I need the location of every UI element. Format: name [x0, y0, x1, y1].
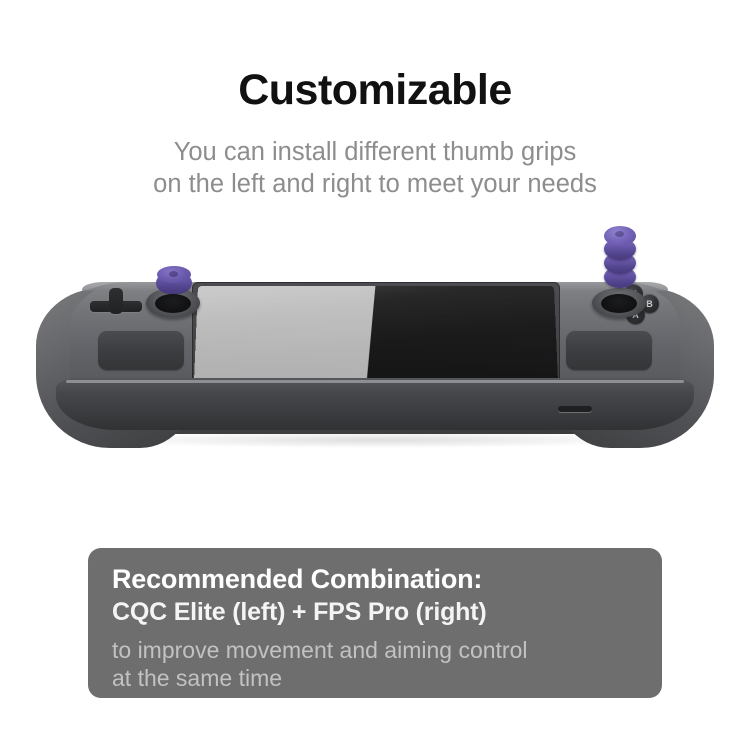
product-image-steam-deck: Y X B A STEAM: [0, 236, 750, 498]
page-title: Customizable: [0, 68, 750, 113]
reco-note-line-1: to improve movement and aiming control: [112, 636, 640, 665]
device-screen: [194, 286, 559, 392]
screen-right-half: [366, 286, 559, 392]
cqc-elite-emboss: [169, 271, 178, 277]
left-thumb-grip-cqc-elite: [156, 266, 192, 296]
headphone-jack-slot: [558, 406, 592, 412]
subtitle-line-2: on the left and right to meet your needs: [0, 168, 750, 201]
dpad-vertical-arm: [109, 288, 123, 314]
reco-note-line-2: at the same time: [112, 664, 640, 693]
reco-title: Recommended Combination:: [112, 564, 640, 596]
device-drop-shadow: [96, 432, 656, 448]
right-thumb-grip-fps-pro: [604, 226, 636, 296]
screen-left-half: [194, 286, 395, 392]
right-thumbstick-well: [601, 294, 637, 313]
dpad: [90, 288, 142, 318]
reco-combo: CQC Elite (left) + FPS Pro (right): [112, 597, 640, 627]
device-chassis: Y X B A STEAM: [42, 282, 708, 434]
left-thumbstick-well: [155, 294, 191, 313]
subtitle-line-1: You can install different thumb grips: [0, 136, 750, 169]
fps-pro-emboss: [615, 231, 624, 237]
recommended-combination-panel: Recommended Combination: CQC Elite (left…: [88, 548, 662, 698]
right-trackpad: [566, 330, 652, 370]
device-front-band: [56, 378, 694, 430]
device-front-band-highlight: [66, 380, 684, 383]
left-trackpad: [98, 330, 184, 370]
